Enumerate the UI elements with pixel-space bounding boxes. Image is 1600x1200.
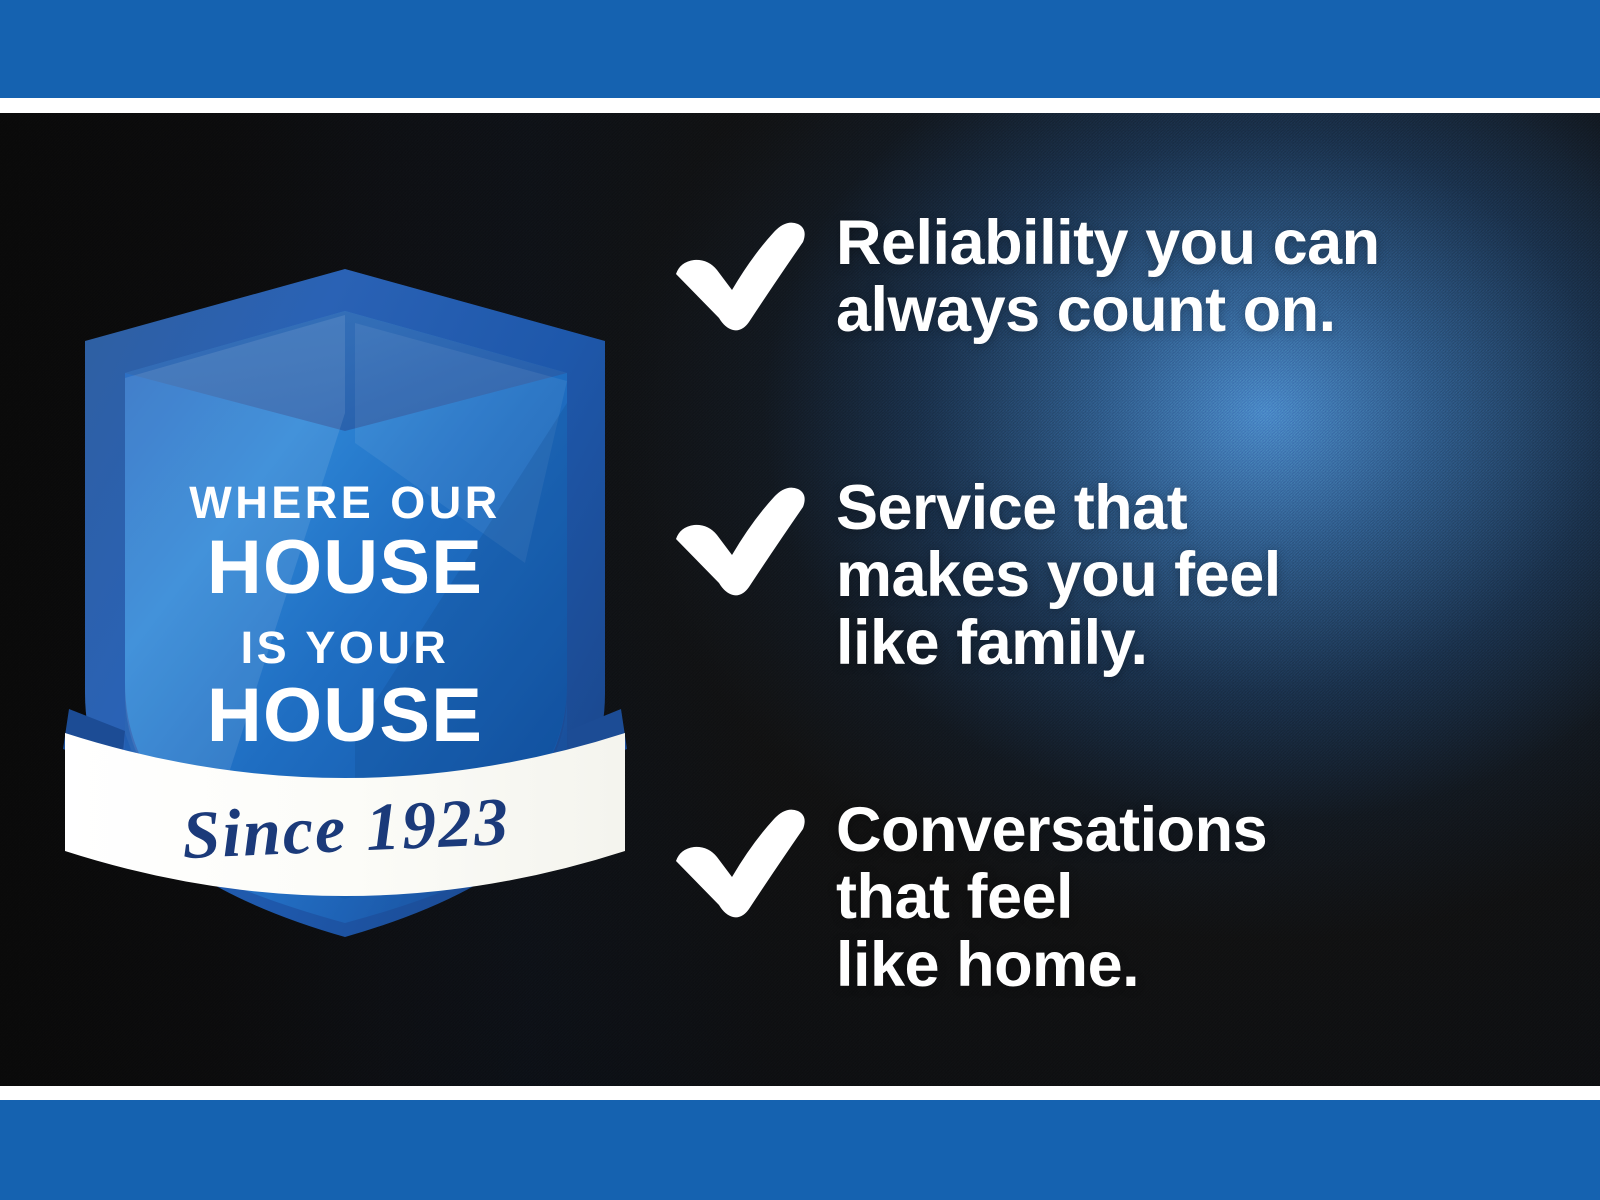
shield-line-3: IS YOUR: [241, 622, 450, 673]
shield-line-4: HOUSE: [207, 673, 483, 758]
top-brand-bar: [0, 0, 1600, 98]
list-item: Conversations that feel like home.: [670, 795, 1267, 999]
main-panel: WHERE OUR HOUSE IS YOUR HOUSE Since 1923: [0, 113, 1600, 1086]
list-item-text: Reliability you can always count on.: [836, 208, 1380, 345]
shield-line-1: WHERE OUR: [189, 477, 501, 528]
shield-line-2: HOUSE: [207, 525, 483, 610]
bottom-bar-divider: [0, 1086, 1600, 1100]
bottom-brand-bar: [0, 1100, 1600, 1200]
list-item: Service that makes you feel like family.: [670, 473, 1281, 677]
list-item-text: Service that makes you feel like family.: [836, 473, 1281, 677]
ribbon-since-text: Since 1923: [181, 783, 512, 873]
list-item-text: Conversations that feel like home.: [836, 795, 1267, 999]
list-item: Reliability you can always count on.: [670, 208, 1380, 345]
checkmark-icon: [670, 212, 812, 332]
benefits-list: Reliability you can always count on. Ser…: [670, 113, 1580, 1086]
promo-graphic: WHERE OUR HOUSE IS YOUR HOUSE Since 1923: [0, 0, 1600, 1200]
top-bar-divider: [0, 98, 1600, 113]
checkmark-icon: [670, 477, 812, 597]
checkmark-icon: [670, 799, 812, 919]
shield-badge: WHERE OUR HOUSE IS YOUR HOUSE Since 1923: [55, 263, 635, 943]
